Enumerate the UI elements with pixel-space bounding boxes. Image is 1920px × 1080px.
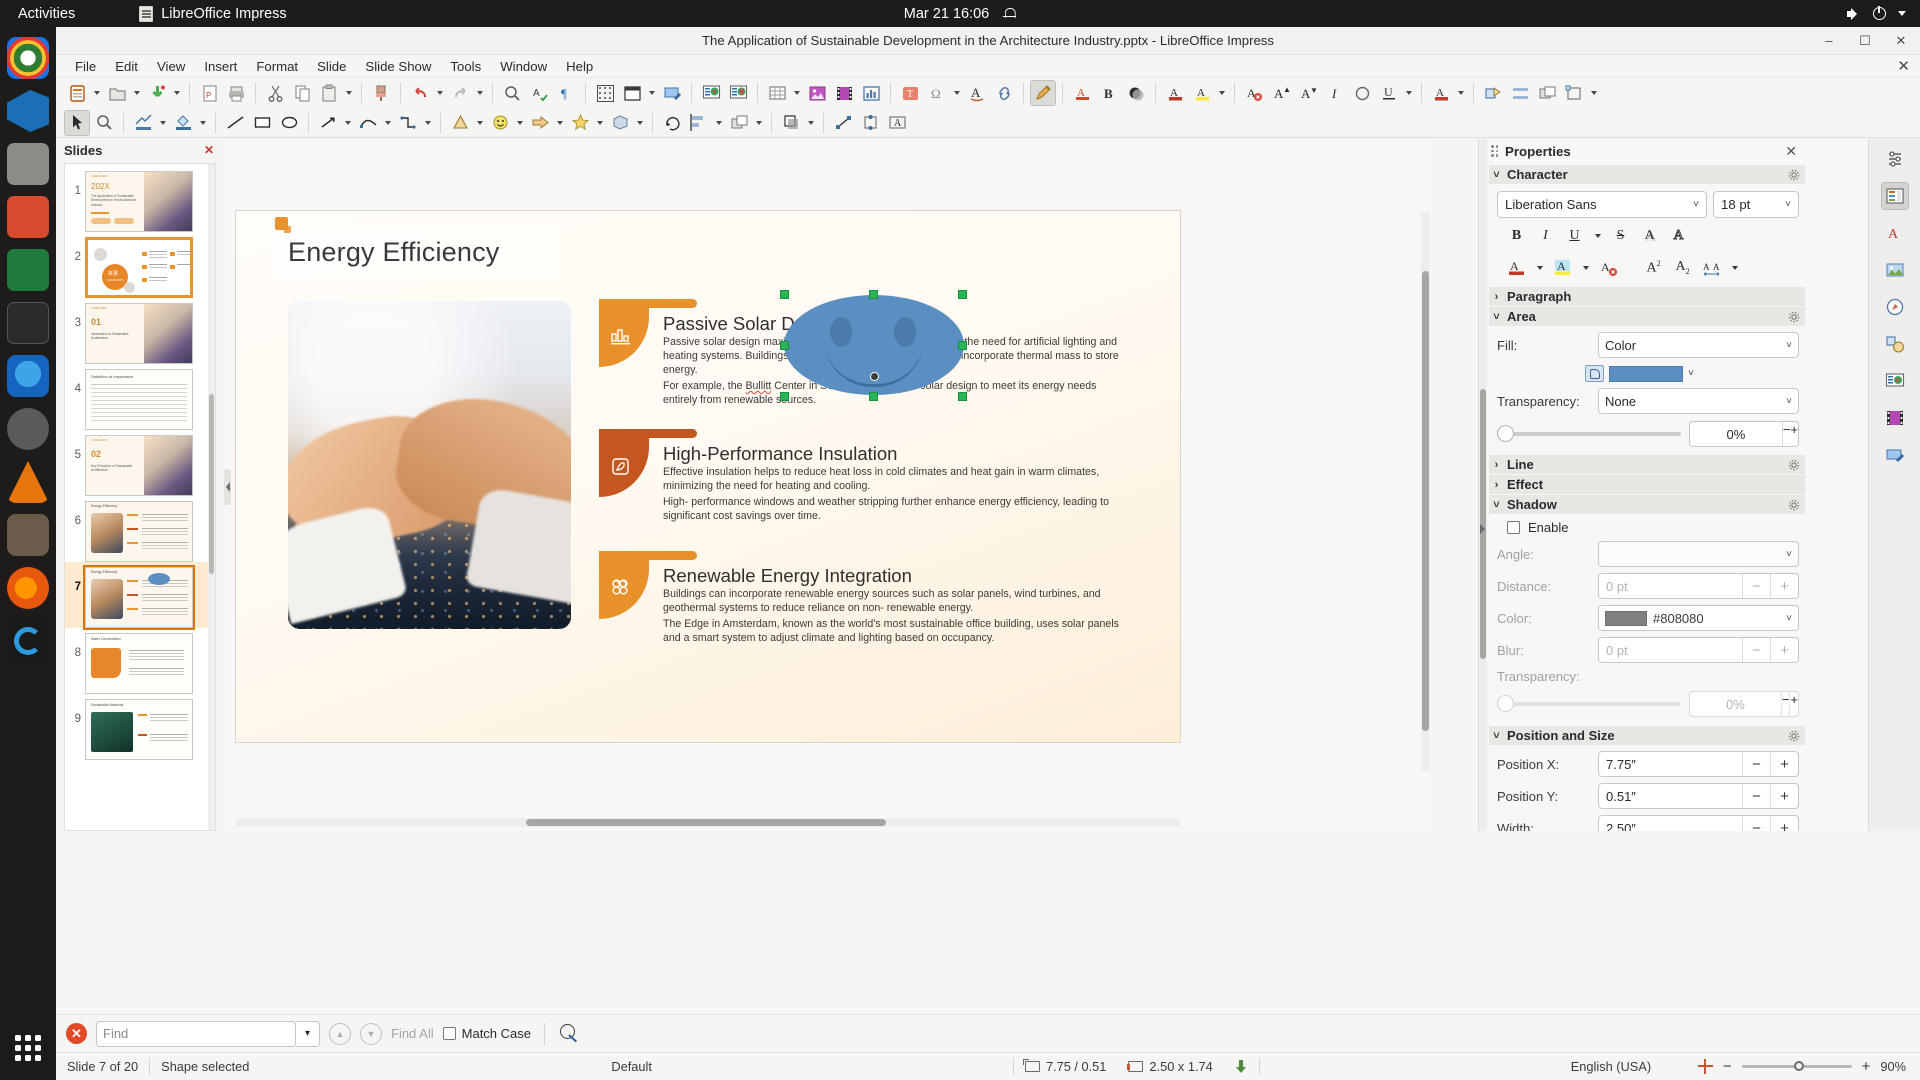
slider-knob[interactable] — [1497, 695, 1514, 712]
increment-button[interactable]: + — [1770, 784, 1798, 808]
slide-editor-area[interactable]: Energy Efficiency Passive Solar Design P… — [224, 139, 1432, 831]
slide-thumbnail-2[interactable]: 2 目录 CONTENTS — [65, 232, 215, 298]
bold-button[interactable]: B — [1503, 223, 1530, 248]
zoom-in-button[interactable]: + — [1862, 1058, 1871, 1075]
dock-item-terminal[interactable] — [7, 302, 49, 344]
shadow-button[interactable]: A — [1636, 223, 1663, 248]
chevron-down-icon[interactable]: ˅ — [1786, 340, 1792, 351]
undo-dropdown-icon[interactable] — [434, 80, 446, 106]
fill-color-swatch[interactable] — [1609, 366, 1683, 382]
rectangle-icon[interactable] — [249, 110, 275, 136]
decrement-button[interactable]: − — [1742, 752, 1770, 776]
bold-icon[interactable]: B — [1096, 80, 1122, 106]
font-color-dropdown-icon[interactable] — [1532, 255, 1547, 280]
dock-item-chrome[interactable] — [7, 37, 49, 79]
gear-icon[interactable] — [1788, 730, 1800, 742]
resize-handle-bottom-center[interactable] — [869, 392, 878, 401]
power-icon[interactable] — [1873, 7, 1886, 20]
find-replace-icon[interactable] — [499, 80, 525, 106]
basic-shapes-icon[interactable] — [447, 110, 473, 136]
line-color-icon[interactable] — [130, 110, 156, 136]
width-row[interactable]: Width: 2.50″ − + — [1489, 809, 1805, 831]
feature-body-3[interactable]: Buildings can incorporate renewable ener… — [663, 587, 1133, 650]
close-document-button[interactable]: ✕ — [1897, 57, 1910, 75]
dock-item-thunderbird[interactable] — [7, 355, 49, 397]
font-color-2-icon[interactable]: A — [1428, 80, 1454, 106]
editor-horizontal-scrollbar[interactable] — [236, 818, 1180, 827]
slide-thumbnail-7[interactable]: 7 Energy Efficiency — [65, 562, 215, 628]
feature-body-2[interactable]: Effective insulation helps to reduce hea… — [663, 465, 1133, 528]
position-y-stepper[interactable]: 0.51″ − + — [1598, 783, 1799, 809]
underline-icon[interactable]: U — [1376, 80, 1402, 106]
area-transparency-slider-row[interactable]: 0% − + — [1489, 414, 1805, 447]
chevron-down-icon[interactable]: ˅ — [1786, 396, 1792, 407]
resize-handle-middle-right[interactable] — [958, 341, 967, 350]
save-icon[interactable] — [144, 80, 170, 106]
block-arrows-icon[interactable] — [527, 110, 553, 136]
select-tool-icon[interactable] — [64, 110, 90, 136]
insert-image-icon[interactable] — [804, 80, 830, 106]
paste-icon[interactable] — [316, 80, 342, 106]
slide-thumbnail-1[interactable]: 1 YOUR LOGO 202X The Application of Sust… — [65, 166, 215, 232]
points-icon[interactable] — [830, 110, 856, 136]
svg-text:I: I — [1331, 86, 1337, 101]
rotate-icon[interactable] — [659, 110, 685, 136]
insert-chart-icon[interactable] — [858, 80, 884, 106]
zoom-out-button[interactable]: − — [1723, 1058, 1732, 1075]
paint-bucket-icon[interactable] — [1585, 365, 1604, 382]
minimize-button[interactable]: – — [1818, 31, 1840, 51]
arrow-dropdown-icon[interactable] — [342, 110, 354, 136]
redo-icon[interactable] — [447, 80, 473, 106]
shadow-transparency-stepper[interactable]: 0% − + — [1689, 691, 1799, 717]
zoom-slider-knob[interactable] — [1794, 1061, 1804, 1071]
slide-thumbnail-3[interactable]: 3 YOUR LOGO 01 Introduction to Sustainab… — [65, 298, 215, 364]
menu-window[interactable]: Window — [491, 56, 556, 77]
resize-handle-top-center[interactable] — [869, 290, 878, 299]
transform-icon[interactable] — [1561, 80, 1587, 106]
decrement-button[interactable]: − — [1742, 816, 1770, 831]
sidebar-properties-deck[interactable]: Properties ✕ ˅ Character Liberation Sans… — [1478, 139, 1868, 831]
shape-center-point[interactable] — [870, 372, 879, 381]
page-title[interactable]: Energy Efficiency — [288, 237, 500, 268]
slide-thumbnail-8[interactable]: 8 Water Conservation — [65, 628, 215, 694]
feature-title-3[interactable]: Renewable Energy Integration — [663, 565, 912, 587]
dock-item-vscode[interactable] — [7, 90, 49, 132]
system-tray[interactable] — [1847, 7, 1906, 21]
font-size-input[interactable]: 18 pt ˅ — [1713, 191, 1799, 218]
highlight-color-button[interactable]: A — [1549, 255, 1576, 280]
transform-dropdown-icon[interactable] — [1588, 80, 1600, 106]
shadow-distance-stepper[interactable]: 0 pt − + — [1598, 573, 1799, 599]
decrement-button[interactable]: − — [1781, 692, 1790, 716]
find-toolbar[interactable]: ✕ Find ▾ ▲ ▼ Find All Match Case — [56, 1014, 1920, 1052]
underline-dropdown-icon[interactable] — [1403, 80, 1415, 106]
standard-toolbar[interactable]: P A ¶ T Ω A A B A A A A▲ A▼ I U A — [56, 78, 1920, 108]
arrow-line-icon[interactable] — [315, 110, 341, 136]
strikethrough-button[interactable]: S — [1607, 223, 1634, 248]
zoom-controls[interactable]: − + 90% — [1698, 1058, 1920, 1075]
resize-handle-middle-left[interactable] — [780, 341, 789, 350]
notifications-icon[interactable] — [1003, 7, 1016, 21]
font-controls-row[interactable]: Liberation Sans ˅ 18 pt ˅ — [1489, 184, 1805, 218]
sidebar-tab-gallery[interactable] — [1881, 256, 1909, 284]
drawing-toolbar[interactable]: A — [56, 108, 1920, 138]
match-case-checkbox[interactable] — [443, 1027, 456, 1040]
resize-handle-top-right[interactable] — [958, 290, 967, 299]
start-slideshow-icon[interactable] — [698, 80, 724, 106]
ellipse-icon[interactable] — [276, 110, 302, 136]
fill-style-select[interactable]: Color ˅ — [1598, 332, 1799, 358]
superscript-button[interactable]: A2 — [1640, 255, 1667, 280]
smiley-face-shape[interactable] — [784, 295, 964, 395]
character-color-buttons[interactable]: A A A A2 A2 AA — [1489, 248, 1805, 280]
subscript-button[interactable]: A2 — [1669, 255, 1696, 280]
area-transparency-slider[interactable] — [1499, 432, 1681, 436]
find-and-replace-icon[interactable] — [558, 1023, 580, 1045]
close-button[interactable]: ✕ — [1890, 31, 1912, 51]
sidebar-tab-animation[interactable] — [1881, 404, 1909, 432]
active-app-indicator[interactable]: LibreOffice Impress — [139, 6, 286, 22]
insert-text-box-icon[interactable]: A — [884, 110, 910, 136]
paste-dropdown-icon[interactable] — [343, 80, 355, 106]
insert-textbox-icon[interactable]: T — [897, 80, 923, 106]
editor-vertical-scrollbar[interactable] — [1421, 211, 1430, 771]
maximize-button[interactable]: ☐ — [1854, 31, 1876, 51]
special-char-dropdown-icon[interactable] — [951, 80, 963, 106]
3d-dropdown-icon[interactable] — [634, 110, 646, 136]
shadow-angle-select[interactable]: ˅ — [1598, 541, 1799, 567]
curve-icon[interactable] — [355, 110, 381, 136]
stars-icon[interactable] — [567, 110, 593, 136]
shadow-color-row[interactable]: Color: #808080 ˅ — [1489, 599, 1805, 631]
find-previous-button[interactable]: ▲ — [329, 1023, 351, 1045]
italic-button[interactable]: I — [1532, 223, 1559, 248]
clear-formatting-button[interactable]: A — [1595, 255, 1622, 280]
sidebar-tab-properties[interactable] — [1881, 182, 1909, 210]
find-input[interactable]: Find — [96, 1021, 296, 1047]
symbol-shapes-dropdown-icon[interactable] — [514, 110, 526, 136]
slides-panel[interactable]: Slides ✕ 1 YOUR LOGO 202X The Applicatio… — [56, 139, 220, 831]
find-all-button[interactable]: Find All — [391, 1026, 434, 1041]
toolbar-separator — [757, 83, 758, 103]
menu-slide[interactable]: Slide — [308, 56, 355, 77]
area-transparency-stepper[interactable]: 0% − + — [1689, 421, 1799, 447]
dock-item-gimp[interactable] — [7, 514, 49, 556]
shadow-text-icon[interactable] — [1123, 80, 1149, 106]
symbol-shapes-icon[interactable] — [487, 110, 513, 136]
ubuntu-dock[interactable] — [0, 27, 56, 1080]
sidebar-settings-icon[interactable] — [1881, 145, 1909, 173]
font-color-button[interactable]: A — [1503, 255, 1530, 280]
insert-media-icon[interactable] — [831, 80, 857, 106]
gear-icon[interactable] — [1788, 459, 1800, 471]
chevron-down-icon[interactable]: ˅ — [1786, 549, 1792, 560]
zoom-tool-icon[interactable] — [91, 110, 117, 136]
new-presentation-icon[interactable] — [64, 80, 90, 106]
insert-fontwork-icon[interactable]: A — [964, 80, 990, 106]
curve-dropdown-icon[interactable] — [382, 110, 394, 136]
resize-handle-top-left[interactable] — [780, 290, 789, 299]
arrange-icon[interactable] — [1534, 80, 1560, 106]
slides-panel-close-icon[interactable]: ✕ — [204, 143, 214, 157]
activities-button[interactable]: Activities — [18, 6, 75, 22]
character-style-buttons[interactable]: B I U S A A — [1489, 218, 1805, 248]
gear-icon[interactable] — [1788, 311, 1800, 323]
position-y-row[interactable]: Position Y: 0.51″ − + — [1489, 777, 1805, 809]
find-history-dropdown-icon[interactable]: ▾ — [296, 1021, 320, 1047]
shadow-dropdown-icon[interactable] — [805, 110, 817, 136]
shadow-blur-stepper[interactable]: 0 pt − + — [1598, 637, 1799, 663]
shadow-enable-row[interactable]: Enable — [1489, 514, 1805, 535]
match-case-checkbox-row[interactable]: Match Case — [443, 1026, 531, 1041]
highlight-color-icon[interactable]: A — [1189, 80, 1215, 106]
menu-format[interactable]: Format — [247, 56, 307, 77]
block-arrows-dropdown-icon[interactable] — [554, 110, 566, 136]
shadow-blur-label: Blur: — [1497, 643, 1590, 658]
fit-slide-to-window-icon[interactable] — [1698, 1059, 1713, 1074]
resize-handle-bottom-right[interactable] — [958, 392, 967, 401]
fill-color-row[interactable]: ˅ — [1489, 358, 1805, 382]
dock-item-ubuntu-software[interactable] — [7, 620, 49, 662]
zoom-slider[interactable] — [1742, 1065, 1852, 1068]
distribute-icon[interactable] — [1507, 80, 1533, 106]
insert-table-icon[interactable] — [764, 80, 790, 106]
object-size-info: 2.50 x 1.74 — [1117, 1059, 1223, 1074]
section-header-position-and-size[interactable]: ˅ Position and Size — [1489, 726, 1805, 745]
slide-image-handshake[interactable] — [288, 301, 571, 629]
show-draw-functions-icon[interactable] — [1030, 80, 1056, 106]
area-transparency-row[interactable]: Transparency: None ˅ — [1489, 382, 1805, 414]
slide-thumbnail-5[interactable]: 5 YOUR LOGO 02 Key Principles of Sustain… — [65, 430, 215, 496]
scrollbar-thumb[interactable] — [1422, 271, 1429, 731]
outline-button[interactable]: A — [1665, 223, 1692, 248]
connector-icon[interactable] — [395, 110, 421, 136]
slide-thumbnail-list[interactable]: 1 YOUR LOGO 202X The Application of Sust… — [64, 163, 216, 831]
highlight-color-dropdown-icon[interactable] — [1578, 255, 1593, 280]
increment-button[interactable]: + — [1770, 574, 1798, 598]
drag-handle-icon[interactable] — [1491, 145, 1498, 158]
fill-color-icon[interactable] — [170, 110, 196, 136]
sidebar-tab-navigator[interactable] — [1881, 293, 1909, 321]
slide-number: 9 — [67, 699, 81, 725]
section-header-shadow[interactable]: ˅ Shadow — [1489, 495, 1805, 514]
insert-shape-icon[interactable] — [1480, 80, 1506, 106]
fill-row[interactable]: Fill: Color ˅ — [1489, 326, 1805, 358]
chevron-down-icon[interactable] — [1898, 11, 1906, 16]
new-dropdown-icon[interactable] — [91, 80, 103, 106]
decrement-button[interactable]: − — [1742, 784, 1770, 808]
stars-dropdown-icon[interactable] — [594, 110, 606, 136]
position-x-stepper[interactable]: 7.75″ − + — [1598, 751, 1799, 777]
language-info[interactable]: English (USA) — [1560, 1059, 1662, 1074]
open-file-icon[interactable] — [104, 80, 130, 106]
align-objects-icon[interactable] — [686, 110, 712, 136]
svg-text:Ω: Ω — [931, 86, 941, 101]
align-dropdown-icon[interactable] — [713, 110, 725, 136]
area-transparency-select[interactable]: None ˅ — [1598, 388, 1799, 414]
scrollbar-thumb[interactable] — [526, 819, 886, 826]
scrollbar-thumb[interactable] — [209, 394, 214, 574]
shadow-color-select[interactable]: #808080 ˅ — [1598, 605, 1799, 631]
dock-item-calc[interactable] — [7, 249, 49, 291]
decrement-button[interactable]: − — [1742, 638, 1770, 662]
sidebar-tab-styles[interactable]: A — [1881, 219, 1909, 247]
zoom-level-value[interactable]: 90% — [1880, 1059, 1906, 1074]
panel-collapse-handle[interactable] — [224, 469, 231, 505]
show-applications-button[interactable] — [8, 1028, 48, 1068]
shadow-distance-row[interactable]: Distance: 0 pt − + — [1489, 567, 1805, 599]
font-color-dropdown-icon[interactable] — [1455, 80, 1467, 106]
section-header-line[interactable]: › Line — [1489, 455, 1805, 474]
menu-tools[interactable]: Tools — [441, 56, 490, 77]
redo-dropdown-icon[interactable] — [474, 80, 486, 106]
slide-canvas[interactable]: Energy Efficiency Passive Solar Design P… — [236, 211, 1180, 742]
shadow-toggle-icon[interactable] — [778, 110, 804, 136]
chevron-down-icon[interactable]: ˅ — [1688, 368, 1694, 379]
width-label: Width: — [1497, 821, 1590, 832]
display-grid-icon[interactable] — [592, 80, 618, 106]
insert-hyperlink-icon[interactable] — [991, 80, 1017, 106]
underline-button[interactable]: U — [1561, 223, 1588, 248]
position-x-row[interactable]: Position X: 7.75″ − + — [1489, 745, 1805, 777]
insert-line-icon[interactable] — [222, 110, 248, 136]
character-spacing-button[interactable]: AA — [1698, 255, 1725, 280]
character-spacing-dropdown-icon[interactable] — [1727, 255, 1742, 280]
gear-icon[interactable] — [1788, 169, 1800, 181]
clock-area[interactable]: Mar 21 16:06 — [904, 6, 1016, 22]
font-color-icon[interactable]: A — [1162, 80, 1188, 106]
slide-thumbnail-4[interactable]: 4 Definition of Importance — [65, 364, 215, 430]
slide-thumbnail-6[interactable]: 6 Energy Efficiency — [65, 496, 215, 562]
arrange-dropdown-icon[interactable] — [753, 110, 765, 136]
cut-icon[interactable] — [262, 80, 288, 106]
slide-number: 5 — [67, 435, 81, 461]
highlight-dropdown-icon[interactable] — [1216, 80, 1228, 106]
decrement-button[interactable]: − — [1782, 422, 1791, 446]
underline-dropdown-icon[interactable] — [1590, 223, 1605, 248]
fit-slide-info[interactable] — [1224, 1060, 1259, 1074]
window-controls[interactable]: – ☐ ✕ — [1818, 31, 1912, 51]
chevron-down-icon[interactable]: ˅ — [1786, 613, 1792, 624]
menu-help[interactable]: Help — [557, 56, 602, 77]
export-pdf-icon[interactable]: P — [196, 80, 222, 106]
sidebar-tab-slide-transition[interactable] — [1881, 441, 1909, 469]
menu-bar[interactable]: File Edit View Insert Format Slide Slide… — [56, 55, 1920, 78]
clone-formatting-icon[interactable] — [368, 80, 394, 106]
fit-slide-icon[interactable] — [1235, 1060, 1248, 1074]
increment-button[interactable]: + — [1770, 816, 1798, 831]
undo-icon[interactable] — [407, 80, 433, 106]
line-color-dropdown-icon[interactable] — [157, 110, 169, 136]
decrease-font-icon[interactable]: A▼ — [1295, 80, 1321, 106]
sidebar-deck-title: Properties — [1505, 144, 1571, 159]
sidebar-close-icon[interactable]: ✕ — [1785, 143, 1797, 160]
sidebar-tab-rail[interactable]: A — [1868, 139, 1920, 831]
increment-button[interactable]: + — [1770, 752, 1798, 776]
glue-points-icon[interactable] — [857, 110, 883, 136]
basic-shapes-dropdown-icon[interactable] — [474, 110, 486, 136]
find-next-button[interactable]: ▼ — [360, 1023, 382, 1045]
gnome-top-bar: Activities LibreOffice Impress Mar 21 16… — [0, 0, 1920, 27]
section-header-area[interactable]: ˅ Area — [1489, 307, 1805, 326]
shadow-angle-row[interactable]: Angle: ˅ — [1489, 535, 1805, 567]
spelling-icon[interactable]: A — [526, 80, 552, 106]
decrement-button[interactable]: − — [1742, 574, 1770, 598]
thumb-title: Energy Efficiency — [91, 570, 117, 575]
dock-item-firefox[interactable] — [7, 567, 49, 609]
dock-item-vlc[interactable] — [7, 461, 49, 503]
formatting-marks-icon[interactable]: ¶ — [553, 80, 579, 106]
section-header-character[interactable]: ˅ Character — [1489, 165, 1805, 184]
arrange-objects-icon[interactable] — [726, 110, 752, 136]
open-dropdown-icon[interactable] — [131, 80, 143, 106]
insert-special-character-icon[interactable]: Ω — [924, 80, 950, 106]
character-highlight-icon[interactable]: A — [1069, 80, 1095, 106]
resize-handle-bottom-left[interactable] — [780, 392, 789, 401]
increment-button[interactable]: + — [1790, 422, 1798, 446]
dock-item-help[interactable] — [7, 408, 49, 450]
volume-icon[interactable] — [1847, 7, 1861, 21]
menu-slide-show[interactable]: Slide Show — [356, 56, 440, 77]
sidebar-collapse-handle[interactable] — [1479, 514, 1486, 544]
sidebar-tab-master-slides[interactable] — [1881, 367, 1909, 395]
display-views-icon[interactable] — [619, 80, 645, 106]
save-dropdown-icon[interactable] — [171, 80, 183, 106]
toggle-shadow-icon[interactable] — [1349, 80, 1375, 106]
chevron-down-icon[interactable]: ˅ — [1693, 199, 1699, 210]
increment-button[interactable]: + — [1770, 638, 1798, 662]
menu-insert[interactable]: Insert — [195, 56, 246, 77]
shadow-transparency-slider[interactable] — [1499, 702, 1681, 706]
present-from-current-icon[interactable] — [725, 80, 751, 106]
sidebar-scrollbar[interactable] — [1479, 139, 1487, 831]
master-slide-icon[interactable] — [659, 80, 685, 106]
close-find-toolbar-button[interactable]: ✕ — [66, 1023, 87, 1044]
italic-icon[interactable]: I — [1322, 80, 1348, 106]
slider-knob[interactable] — [1497, 425, 1514, 442]
chevron-down-icon[interactable]: ˅ — [1785, 199, 1791, 210]
gear-icon[interactable] — [1788, 499, 1800, 511]
sidebar-tab-shapes[interactable] — [1881, 330, 1909, 358]
fill-color-dropdown-icon[interactable] — [197, 110, 209, 136]
shadow-enable-checkbox[interactable] — [1507, 521, 1520, 534]
slides-panel-scrollbar[interactable] — [208, 164, 215, 830]
width-stepper[interactable]: 2.50″ − + — [1598, 815, 1799, 831]
feature-title-2[interactable]: High-Performance Insulation — [663, 443, 897, 465]
font-name-input[interactable]: Liberation Sans ˅ — [1497, 191, 1707, 218]
views-dropdown-icon[interactable] — [646, 80, 658, 106]
increment-button[interactable]: + — [1789, 692, 1798, 716]
dock-item-impress[interactable] — [7, 196, 49, 238]
3d-objects-icon[interactable] — [607, 110, 633, 136]
slide-thumbnail-9[interactable]: 9 Sustainable Materials — [65, 694, 215, 760]
section-header-effect[interactable]: › Effect — [1489, 475, 1805, 494]
dock-item-files[interactable] — [7, 143, 49, 185]
menu-view[interactable]: View — [148, 56, 194, 77]
copy-icon[interactable] — [289, 80, 315, 106]
table-dropdown-icon[interactable] — [791, 80, 803, 106]
shadow-transparency-slider-row[interactable]: 0% − + — [1489, 684, 1805, 717]
clear-formatting-icon[interactable]: A — [1241, 80, 1267, 106]
shadow-blur-row[interactable]: Blur: 0 pt − + — [1489, 631, 1805, 663]
connector-dropdown-icon[interactable] — [422, 110, 434, 136]
increase-font-icon[interactable]: A▲ — [1268, 80, 1294, 106]
menu-edit[interactable]: Edit — [106, 56, 147, 77]
print-icon[interactable] — [223, 80, 249, 106]
section-header-paragraph[interactable]: › Paragraph — [1489, 287, 1805, 306]
menu-file[interactable]: File — [66, 56, 105, 77]
